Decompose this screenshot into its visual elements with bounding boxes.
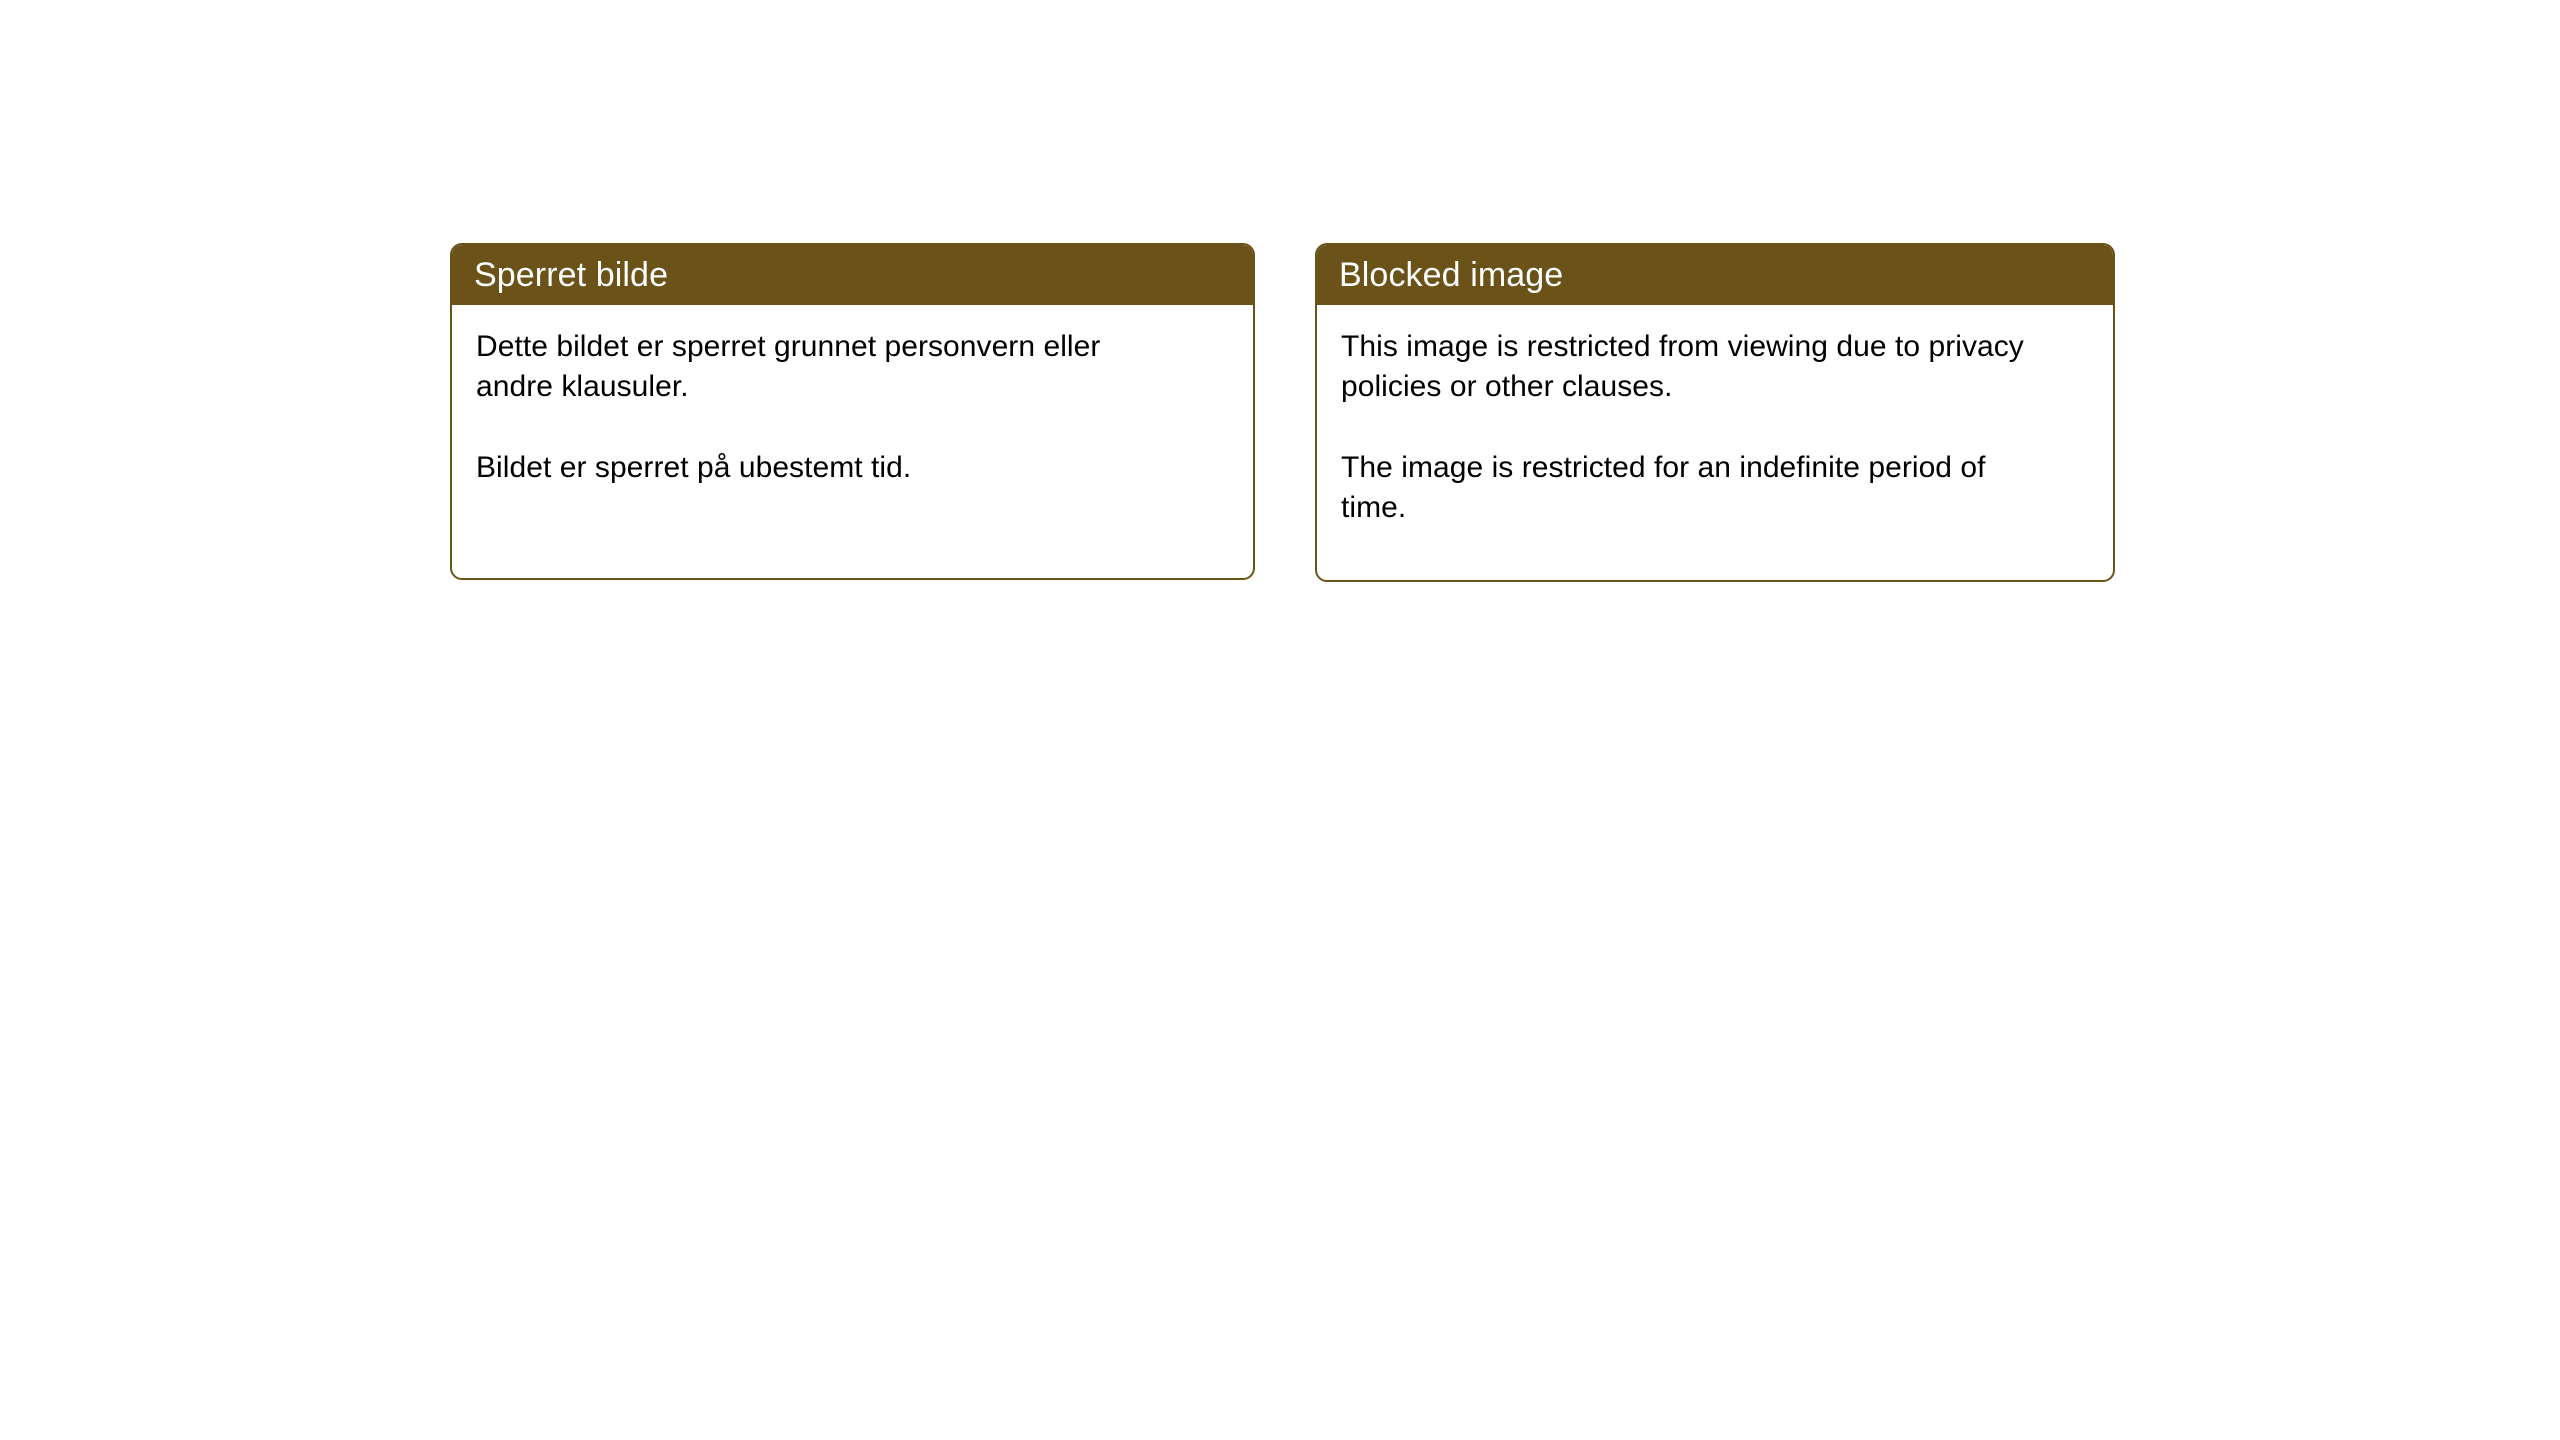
card-header-norwegian: Sperret bilde [452,245,1253,305]
card-title-english: Blocked image [1339,258,1563,292]
card-paragraph-primary-english: This image is restricted from viewing du… [1341,327,2053,407]
blocked-image-card-english: Blocked image This image is restricted f… [1315,243,2115,582]
blocked-image-card-norwegian: Sperret bilde Dette bildet er sperret gr… [450,243,1255,580]
card-paragraph-primary-norwegian: Dette bildet er sperret grunnet personve… [476,327,1128,407]
card-title-norwegian: Sperret bilde [474,258,668,292]
card-header-english: Blocked image [1317,245,2113,305]
page-canvas: Sperret bilde Dette bildet er sperret gr… [0,0,2560,1440]
card-paragraph-secondary-english: The image is restricted for an indefinit… [1341,448,2053,528]
card-body-norwegian: Dette bildet er sperret grunnet personve… [452,305,1152,488]
card-body-english: This image is restricted from viewing du… [1317,305,2077,528]
card-paragraph-secondary-norwegian: Bildet er sperret på ubestemt tid. [476,448,1128,488]
